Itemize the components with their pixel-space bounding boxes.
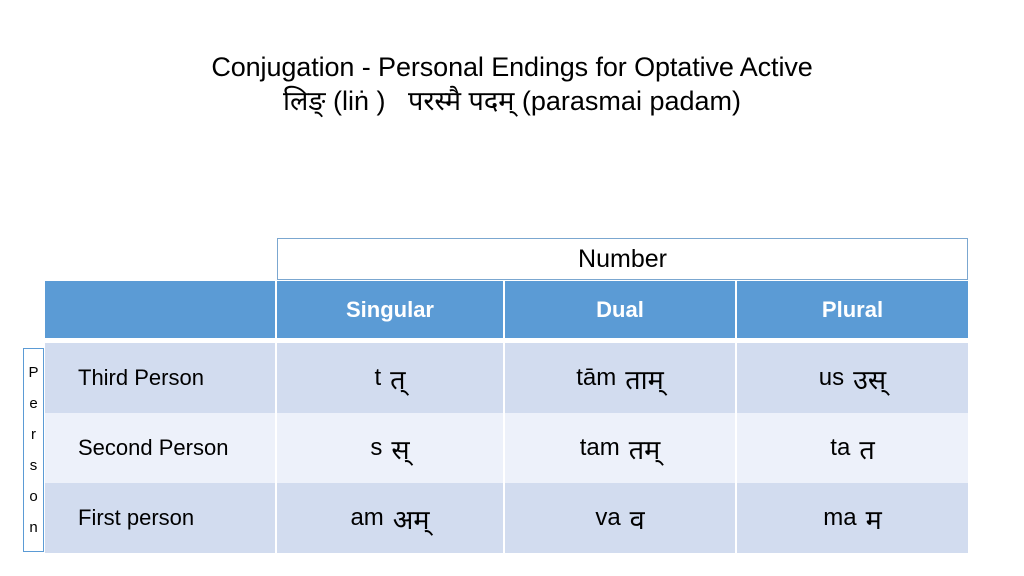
cell-devanagari: त् [390,360,405,397]
title-line-primary: Conjugation - Personal Endings for Optat… [0,52,1024,84]
person-letter-e: e [29,396,37,411]
person-letter-s: s [30,458,38,473]
cell-second-dual: tam तम् [505,413,737,483]
cell-devanagari: म [866,500,882,537]
person-letter-r: r [31,427,36,442]
cell-second-plural: ta त [737,413,968,483]
person-letter-p: P [28,365,38,380]
cell-roman: us [819,364,844,392]
person-letter-o: o [29,489,37,504]
header-corner-cell [45,281,277,338]
table-row: Third Person t त् tām ताम् us उस् [45,343,968,413]
title-line-secondary: लिङ् (liṅ ) परस्मै पदम् (parasmai padam) [0,86,1024,118]
table-header-row: Singular Dual Plural [45,281,968,338]
page-title: Conjugation - Personal Endings for Optat… [0,52,1024,118]
person-letter-n: n [29,520,37,535]
cell-devanagari: तम् [629,430,661,467]
cell-second-singular: s स् [277,413,505,483]
cell-devanagari: ताम् [625,360,664,397]
cell-roman: am [350,504,383,532]
cell-roman: tām [576,364,616,392]
cell-third-singular: t त् [277,343,505,413]
table-row: Second Person s स् tam तम् ta त [45,413,968,483]
row-label-second-person: Second Person [45,413,277,483]
cell-roman: tam [580,434,620,462]
cell-roman: ta [830,434,850,462]
column-header-singular: Singular [277,281,505,338]
cell-third-plural: us उस् [737,343,968,413]
title-devanagari-ling: लिङ् [283,86,326,116]
cell-devanagari: स् [391,430,409,467]
cell-devanagari: व [630,500,645,537]
cell-first-dual: va व [505,483,737,553]
title-roman-ling: (liṅ ) [333,86,386,116]
title-devanagari-parasmai-padam: परस्मै पदम् [408,86,514,116]
column-header-dual: Dual [505,281,737,338]
row-axis-label-person: P e r s o n [23,348,44,552]
title-roman-parasmai-padam: (parasmai padam) [522,86,741,116]
column-header-plural: Plural [737,281,968,338]
cell-first-plural: ma म [737,483,968,553]
cell-roman: ma [823,504,856,532]
cell-devanagari: उस् [853,360,886,397]
column-axis-label-number: Number [277,238,968,280]
cell-roman: t [374,364,381,392]
cell-roman: va [595,504,620,532]
cell-devanagari: त [859,430,874,467]
cell-devanagari: अम् [393,500,430,537]
conjugation-table: Number Singular Dual Plural Third Person… [45,238,968,553]
row-label-first-person: First person [45,483,277,553]
row-label-third-person: Third Person [45,343,277,413]
cell-roman: s [370,434,382,462]
cell-third-dual: tām ताम् [505,343,737,413]
cell-first-singular: am अम् [277,483,505,553]
table-row: First person am अम् va व ma म [45,483,968,553]
